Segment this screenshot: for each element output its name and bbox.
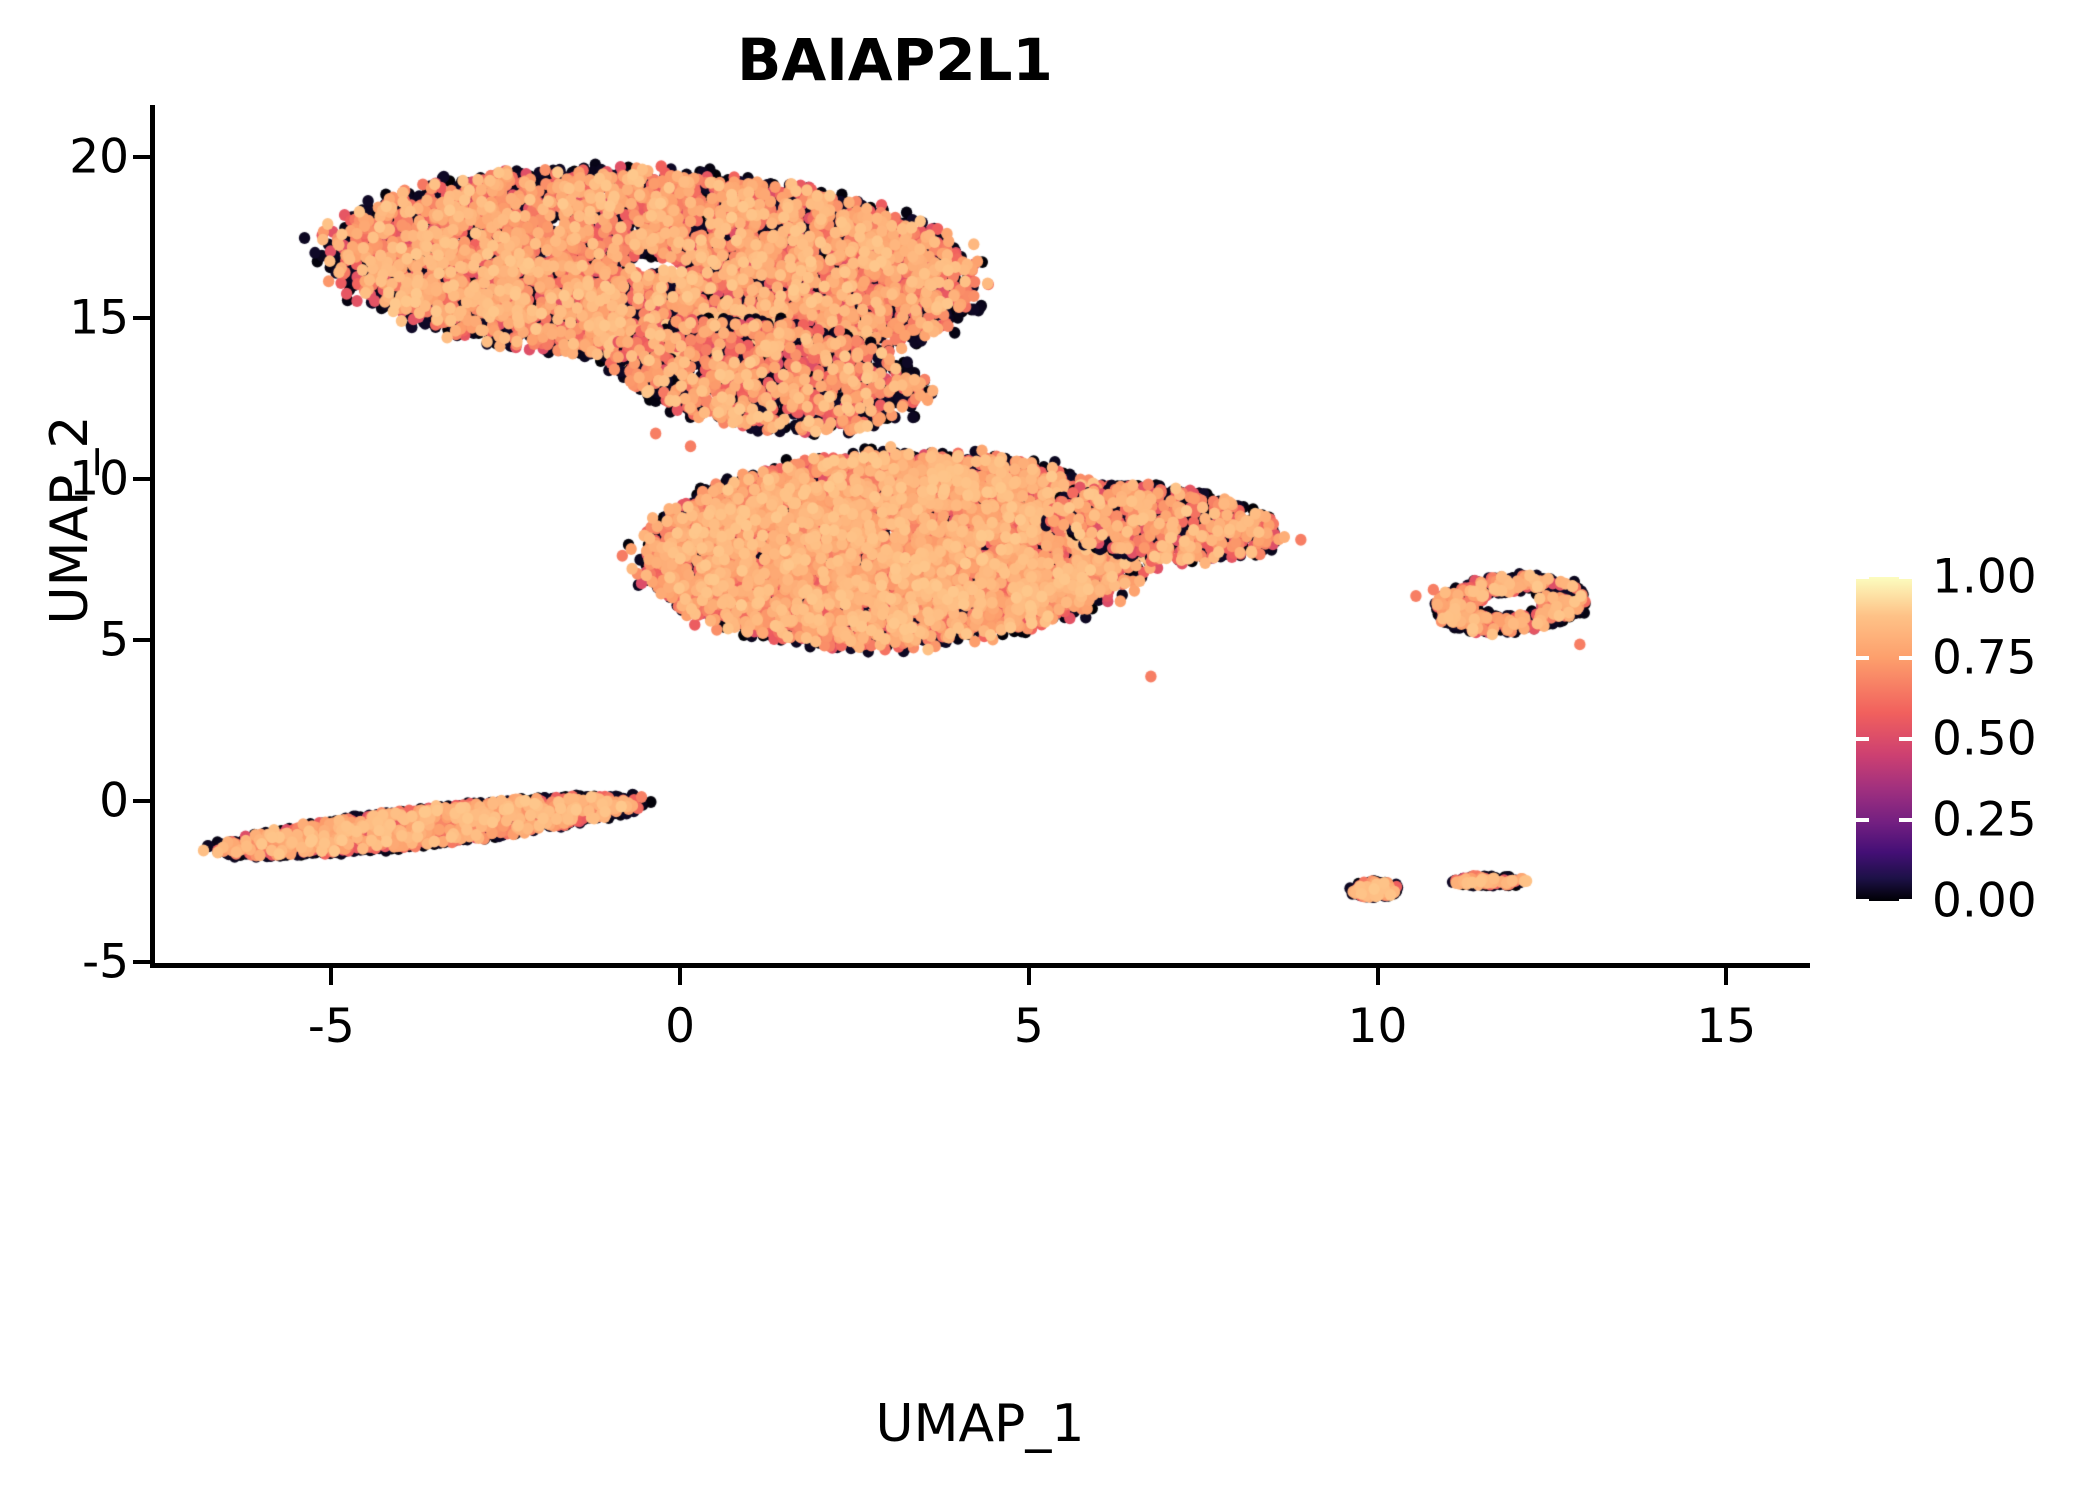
- x-tick-label: -5: [308, 999, 355, 1054]
- y-tick-mark: [133, 155, 150, 159]
- colorbar-tick-label: 0.50: [1932, 712, 2037, 767]
- x-tick-label: 10: [1348, 999, 1408, 1054]
- y-tick-mark: [133, 799, 150, 803]
- scatter-plot-canvas: [150, 105, 1810, 968]
- y-tick-mark: [133, 477, 150, 481]
- page-title: BAIAP2L1: [0, 26, 1790, 94]
- figure-root: BAIAP2L1 -505101520 -5051015 UMAP_1 UMAP…: [0, 0, 2100, 1500]
- colorbar-tick-label: 1.00: [1932, 550, 2037, 605]
- y-tick-mark: [133, 316, 150, 320]
- y-tick-label: 5: [99, 612, 129, 667]
- plot-axes: -505101520 -5051015: [150, 105, 1810, 968]
- y-axis-label: UMAP_2: [40, 120, 100, 920]
- colorbar-tick-mark: [1856, 818, 1912, 822]
- y-tick-mark: [133, 638, 150, 642]
- x-tick-mark: [1027, 968, 1031, 985]
- colorbar-tick-label: 0.25: [1932, 793, 2037, 848]
- y-axis-spine: [150, 105, 155, 968]
- x-tick-mark: [329, 968, 333, 985]
- x-tick-label: 5: [1014, 999, 1044, 1054]
- colorbar-tick-label: 0.00: [1932, 874, 2037, 929]
- x-tick-mark: [678, 968, 682, 985]
- colorbar-tick-mark: [1856, 575, 1912, 579]
- colorbar-tick-mark: [1856, 737, 1912, 741]
- y-tick-label: -5: [82, 934, 129, 989]
- x-tick-mark: [1724, 968, 1728, 985]
- x-axis-label: UMAP_1: [150, 1394, 1810, 1454]
- x-tick-label: 15: [1696, 999, 1756, 1054]
- colorbar: 0.000.250.500.751.00: [1856, 577, 2096, 901]
- colorbar-tick-mark: [1856, 656, 1912, 660]
- x-axis-spine: [150, 963, 1810, 968]
- y-tick-mark: [133, 960, 150, 964]
- y-tick-label: 0: [99, 773, 129, 828]
- colorbar-tick-mark: [1856, 899, 1912, 903]
- x-tick-mark: [1376, 968, 1380, 985]
- colorbar-tick-label: 0.75: [1932, 631, 2037, 686]
- x-tick-label: 0: [665, 999, 695, 1054]
